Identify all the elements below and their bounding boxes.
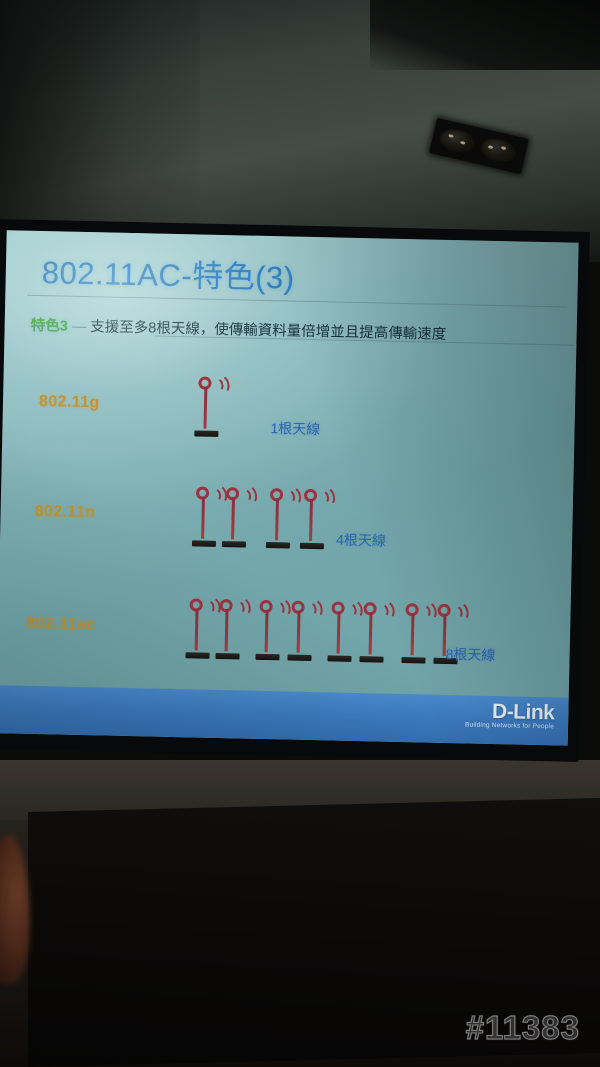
antenna-base xyxy=(401,657,425,664)
antenna-stem xyxy=(201,497,205,539)
antenna-stem xyxy=(309,499,313,541)
antenna-base xyxy=(287,655,311,662)
antenna-base xyxy=(194,430,218,437)
antenna-base xyxy=(215,653,239,660)
antenna-stem xyxy=(225,609,229,651)
antenna-group-n xyxy=(190,484,341,549)
slide-subtitle: 特色3—支援至多8根天線，使傳輸資料量倍增並且提高傳輸速度 xyxy=(30,314,446,344)
standard-row: 802.11g 1根天線 xyxy=(2,370,576,478)
antenna-icon xyxy=(325,599,352,662)
ceiling-spotlight-icon xyxy=(429,118,529,174)
antenna-base xyxy=(255,654,279,661)
signal-wave-icon xyxy=(317,486,337,509)
photograph-of-presentation-screen: 802.11AC-特色(3) 特色3—支援至多8根天線，使傳輸資料量倍增並且提高… xyxy=(0,0,600,1067)
antenna-base xyxy=(266,542,290,549)
dlink-tagline: Building Networks for People xyxy=(465,721,554,730)
antenna-stem xyxy=(369,612,373,654)
subtitle-body: 支援至多8根天線，使傳輸資料量倍增並且提高傳輸速度 xyxy=(90,319,446,343)
signal-wave-icon xyxy=(239,484,259,507)
antenna-group-ac xyxy=(183,596,472,664)
antenna-icon xyxy=(264,486,291,549)
antenna-icon xyxy=(183,596,210,659)
antenna-icon xyxy=(399,601,426,664)
antenna-icon xyxy=(298,487,325,550)
antenna-count-label-n: 4根天線 xyxy=(336,530,386,551)
signal-wave-icon xyxy=(377,599,397,622)
slide-title: 802.11AC-特色(3) xyxy=(41,247,295,298)
spotlight-lamp-right xyxy=(477,135,519,167)
antenna-icon xyxy=(253,598,280,661)
title-divider xyxy=(27,295,567,308)
antenna-count-label-ac: 8根天線 xyxy=(445,644,495,665)
antenna-icon xyxy=(357,600,384,663)
standard-row: 802.11ac 8根天線 xyxy=(0,592,571,700)
antenna-base xyxy=(300,543,324,550)
antenna-stem xyxy=(195,608,199,650)
antenna-stem xyxy=(275,498,279,540)
antenna-stem xyxy=(411,613,415,655)
signal-wave-icon xyxy=(211,373,231,396)
antenna-base xyxy=(222,541,246,548)
feature-key-label: 特色3 xyxy=(31,318,68,335)
antenna-icon xyxy=(192,374,219,437)
standard-label-ac: 802.11ac xyxy=(26,615,95,635)
presentation-slide: 802.11AC-特色(3) 特色3—支援至多8根天線，使傳輸資料量倍增並且提高… xyxy=(0,230,579,745)
antenna-icon xyxy=(220,485,247,548)
standard-row: 802.11n 4根天線 xyxy=(0,480,573,588)
watermark-text: #11383 xyxy=(466,1009,580,1047)
antenna-base xyxy=(359,656,383,663)
dlink-logo: D-Link Building Networks for People xyxy=(465,699,555,730)
standard-label-n: 802.11n xyxy=(34,503,95,522)
projection-screen: 802.11AC-特色(3) 特色3—支援至多8根天線，使傳輸資料量倍增並且提高… xyxy=(0,219,594,777)
antenna-base xyxy=(192,540,216,547)
signal-wave-icon xyxy=(305,598,325,621)
antenna-stem xyxy=(297,611,301,653)
standard-label-g: 802.11g xyxy=(39,393,100,412)
antenna-icon xyxy=(190,484,217,547)
antenna-group-g xyxy=(192,374,223,437)
antenna-base xyxy=(185,652,209,659)
signal-wave-icon xyxy=(451,601,471,624)
antenna-stem xyxy=(231,497,235,539)
antenna-stem xyxy=(337,612,341,654)
antenna-count-label-g: 1根天線 xyxy=(270,418,320,439)
antenna-stem xyxy=(265,610,269,652)
subtitle-dash: — xyxy=(68,319,91,335)
antenna-base xyxy=(327,655,351,662)
antenna-stem xyxy=(203,387,207,429)
spotlight-lamp-left xyxy=(436,125,478,157)
antenna-icon xyxy=(285,598,312,661)
blurred-hand xyxy=(0,834,30,984)
signal-wave-icon xyxy=(233,596,253,619)
ceiling-dark-corner xyxy=(370,0,600,70)
antenna-icon xyxy=(213,597,240,660)
